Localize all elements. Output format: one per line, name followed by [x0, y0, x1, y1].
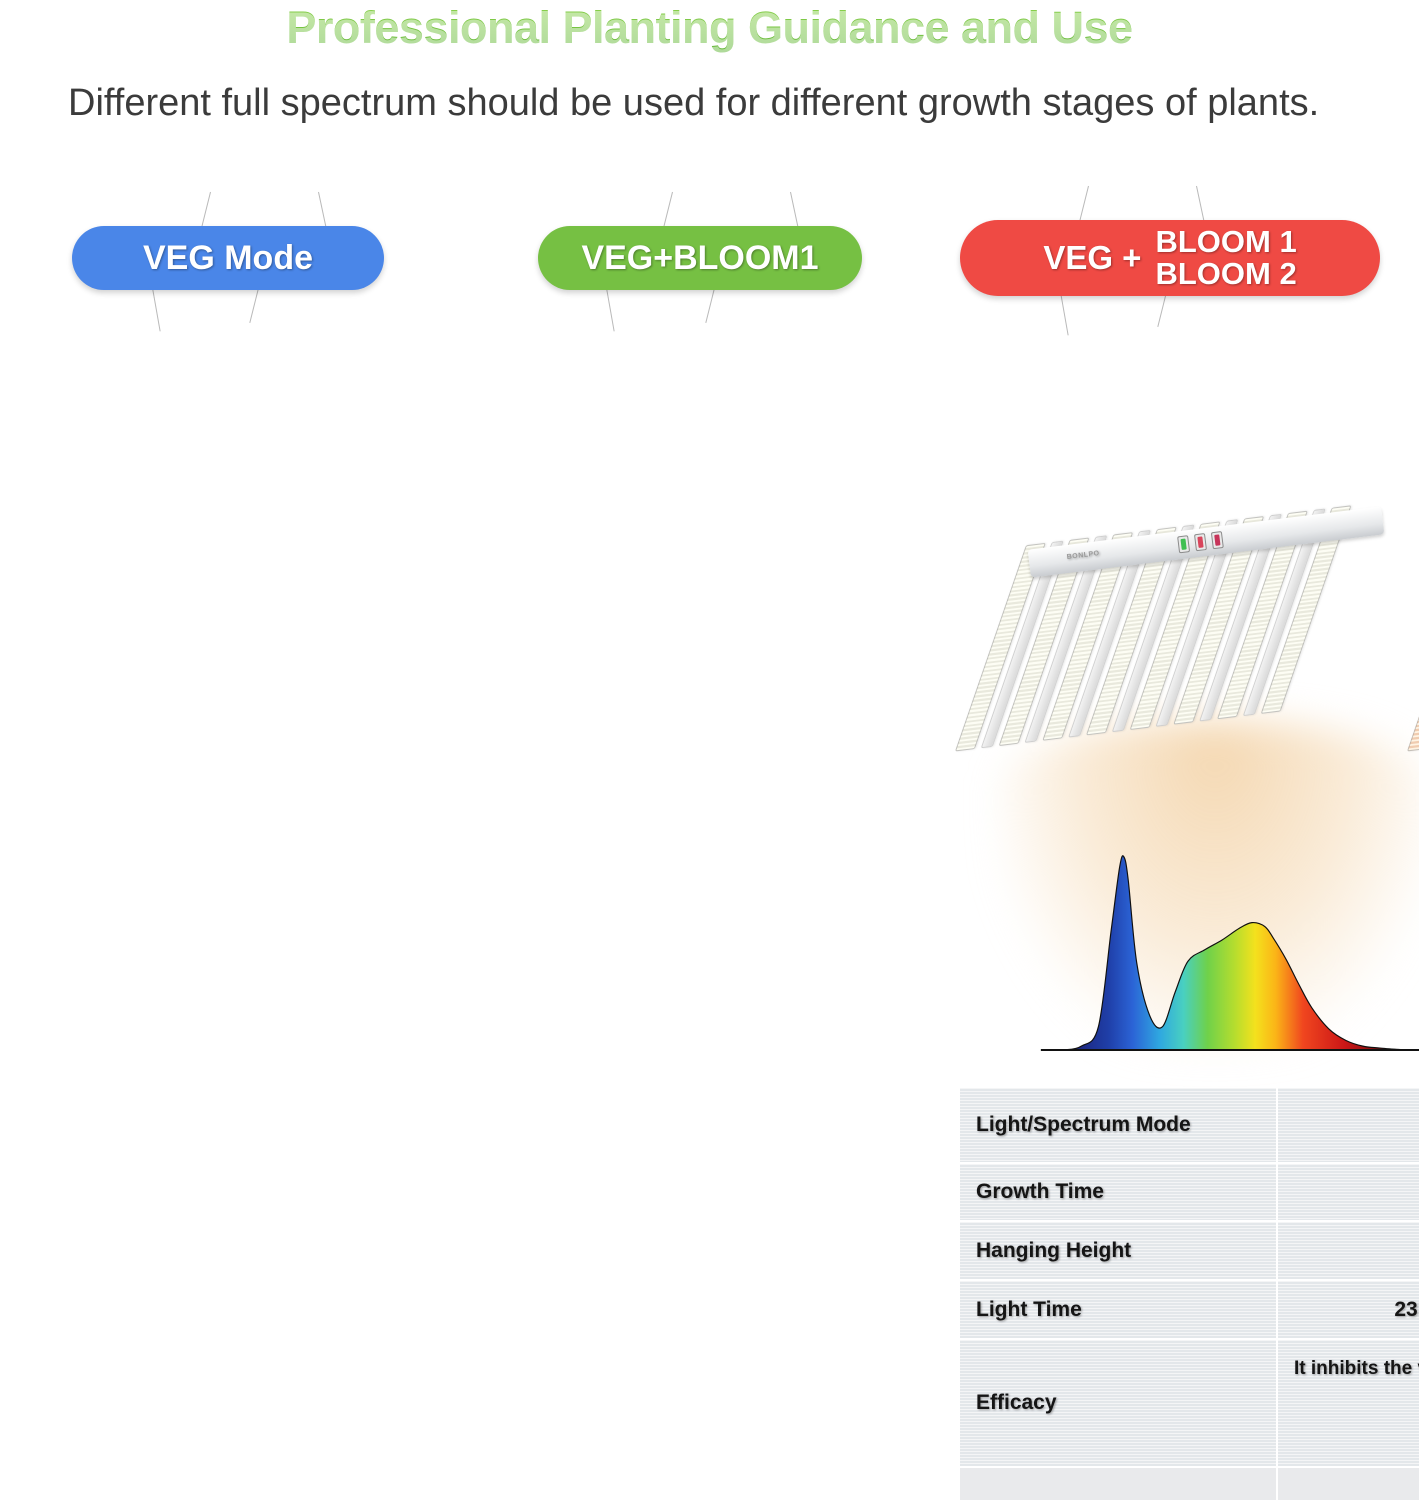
light-time-veg: 23h on / 1h off [1278, 1281, 1419, 1340]
growth-status-veg: germination & seeding stage [1278, 1468, 1419, 1500]
table-row-efficacy: Efficacy It inhibits the vertical growth… [960, 1340, 1419, 1468]
row-label-efficacy: Efficacy [960, 1340, 1278, 1468]
hanging-wire [1157, 292, 1167, 327]
hanging-wire [1060, 292, 1069, 336]
table-row-light-time: Light Time 23h on / 1h off 18h on / 6h o… [960, 1281, 1419, 1340]
switch-bloom2-indicator[interactable] [1211, 531, 1224, 549]
hanging-wire [705, 288, 715, 323]
table-row-hanging-height: Hanging Height 30 inch 18-24 inch 12-16 … [960, 1222, 1419, 1281]
spectrum-chart-veg-svg [1035, 835, 1419, 1065]
efficacy-veg: It inhibits the vertical growth of plant… [1278, 1340, 1419, 1468]
grow-light-panel-veg: BONLPO [1020, 520, 1419, 760]
switch-veg-indicator[interactable] [1177, 535, 1190, 553]
hanging-height-veg: 30 inch [1278, 1222, 1419, 1281]
spectrum-chart-veg [1035, 835, 1419, 1065]
growth-time-veg: 1 weeks [1278, 1164, 1419, 1222]
header-veg: VEG [1278, 1088, 1419, 1164]
badge-veg-bloom1-label: VEG+BLOOM1 [581, 239, 818, 278]
hanging-wire [249, 288, 259, 323]
badge-veg-bloom12-prefix: VEG + [1043, 239, 1141, 277]
badge-veg-mode-label: VEG Mode [143, 239, 313, 278]
row-label-light-spectrum-mode: Light/Spectrum Mode [960, 1088, 1278, 1164]
mode-switch-group[interactable] [1177, 531, 1224, 553]
spectrum-comparison-table: Light/Spectrum Mode VEG VEG + BLOOM 1 VE… [960, 1088, 1419, 1500]
badge-veg-bloom12-line1: BLOOM 1 [1155, 226, 1296, 258]
badge-veg-bloom1[interactable]: VEG+BLOOM1 [538, 226, 862, 290]
table-row-growth-time: Growth Time 1 weeks 2-8 weeks 9-23 weeks [960, 1164, 1419, 1222]
hanging-wire [152, 288, 161, 332]
row-label-growth-time: Growth Time [960, 1164, 1278, 1222]
table-row-growth-status: Growth status [960, 1468, 1419, 1500]
table-row-mode: Light/Spectrum Mode VEG VEG + BLOOM 1 VE… [960, 1088, 1419, 1164]
badge-veg-bloom12-line2: BLOOM 2 [1155, 258, 1296, 290]
row-label-hanging-height: Hanging Height [960, 1222, 1278, 1281]
badge-veg-mode[interactable]: VEG Mode [72, 226, 384, 290]
switch-bloom1-indicator[interactable] [1194, 533, 1207, 551]
page-subtitle: Different full spectrum should be used f… [68, 78, 1368, 128]
hanging-wire [606, 288, 615, 332]
row-label-growth-status: Growth status [960, 1468, 1278, 1500]
row-label-light-time: Light Time [960, 1281, 1278, 1340]
brand-logo: BONLPO [1066, 550, 1100, 561]
page-title: Professional Planting Guidance and Use [0, 2, 1419, 54]
infographic-page: Professional Planting Guidance and Use D… [0, 0, 1419, 1500]
badge-veg-bloom1-bloom2[interactable]: VEG + BLOOM 1 BLOOM 2 [960, 220, 1380, 296]
